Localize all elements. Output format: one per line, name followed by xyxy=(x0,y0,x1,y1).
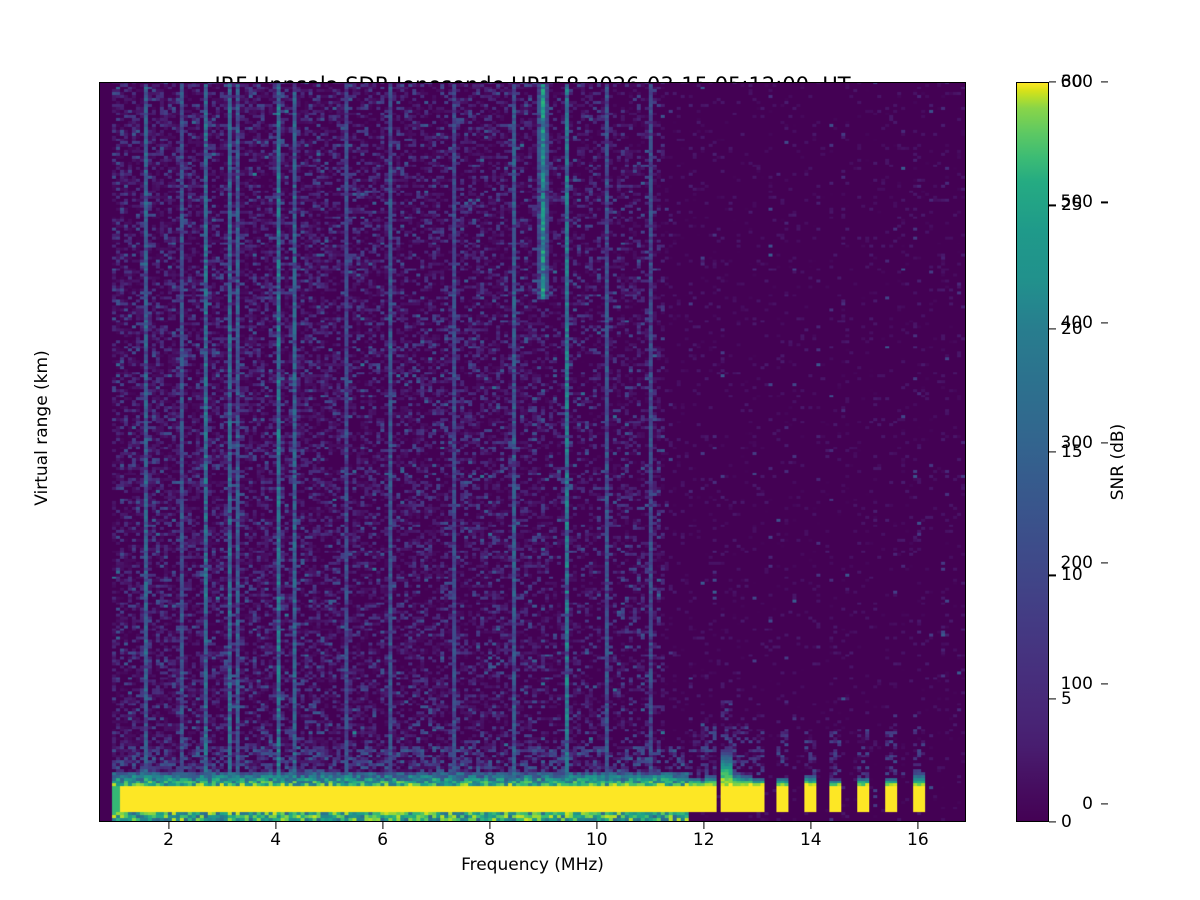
colorbar-label: SNR (dB) xyxy=(1108,237,1128,687)
colorbar-gradient xyxy=(1017,83,1048,821)
x-tick-label: 10 xyxy=(586,830,608,850)
colorbar-tick-mark xyxy=(1049,698,1056,699)
colorbar-tick-label: 25 xyxy=(1061,195,1083,215)
colorbar-tick-mark xyxy=(1049,575,1056,576)
x-tick-mark xyxy=(810,822,811,829)
x-tick-label: 6 xyxy=(377,830,388,850)
y-tick-mark xyxy=(1101,563,1108,564)
x-tick-mark xyxy=(596,822,597,829)
colorbar-tick-mark xyxy=(1049,451,1056,452)
colorbar-tick-mark xyxy=(1049,205,1056,206)
y-tick-mark xyxy=(1101,683,1108,684)
y-tick-mark xyxy=(1101,202,1108,203)
colorbar-tick-label: 10 xyxy=(1061,565,1083,585)
x-tick-label: 8 xyxy=(484,830,495,850)
colorbar[interactable] xyxy=(1016,82,1049,822)
x-axis-label: Frequency (MHz) xyxy=(99,855,966,875)
colorbar-tick-label: 0 xyxy=(1061,812,1072,832)
colorbar-tick-mark xyxy=(1049,81,1056,82)
y-tick-mark xyxy=(1101,442,1108,443)
colorbar-tick-mark xyxy=(1049,328,1056,329)
colorbar-tick-label: 20 xyxy=(1061,319,1083,339)
colorbar-tick-mark xyxy=(1049,821,1056,822)
y-tick-mark xyxy=(1101,322,1108,323)
x-tick-label: 14 xyxy=(800,830,822,850)
x-tick-mark xyxy=(168,822,169,829)
x-tick-label: 16 xyxy=(907,830,929,850)
colorbar-tick-label: 5 xyxy=(1061,689,1072,709)
ionogram-figure: IRF Uppsala SDR Ionosonde UP158 2026-03-… xyxy=(0,0,1200,900)
x-tick-label: 4 xyxy=(270,830,281,850)
y-tick-mark xyxy=(1101,803,1108,804)
x-tick-label: 12 xyxy=(693,830,715,850)
x-tick-mark xyxy=(703,822,704,829)
x-tick-mark xyxy=(489,822,490,829)
x-tick-label: 2 xyxy=(163,830,174,850)
y-tick-label: 0 xyxy=(1082,794,1093,814)
x-tick-mark xyxy=(382,822,383,829)
ionogram-plot-area[interactable] xyxy=(99,82,966,822)
y-axis-label: Virtual range (km) xyxy=(32,78,52,778)
colorbar-tick-label: 15 xyxy=(1061,442,1083,462)
x-tick-mark xyxy=(275,822,276,829)
ionogram-heatmap-canvas xyxy=(100,83,965,821)
x-tick-mark xyxy=(917,822,918,829)
y-tick-mark xyxy=(1101,81,1108,82)
colorbar-tick-label: 30 xyxy=(1061,72,1083,92)
